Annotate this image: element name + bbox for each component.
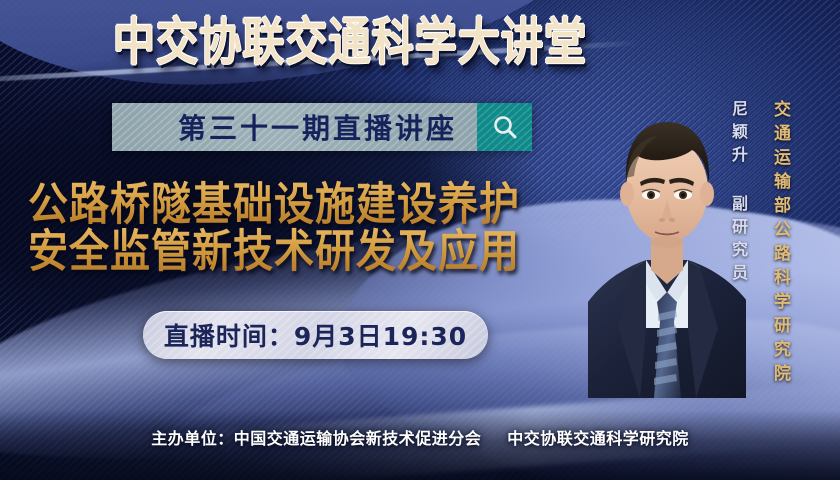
broadcast-time-text: 直播时间：9月3日19:30 <box>164 317 467 353</box>
footer-prefix: 主办单位： <box>151 429 234 448</box>
speaker-name-and-title: 尼颖升 副研究员 <box>726 100 750 287</box>
search-icon[interactable] <box>477 103 532 151</box>
footer-organizer-1: 中国交通运输协会新技术促进分会 <box>234 429 482 448</box>
episode-label: 第三十一期直播讲座 <box>132 107 457 147</box>
speaker-organization: 交通运输部公路科学研究院 <box>768 100 793 388</box>
lecture-topic-line-1: 公路桥隧基础设施建设养护 <box>28 179 588 232</box>
speaker-portrait <box>588 78 746 398</box>
episode-banner-body: 第三十一期直播讲座 <box>112 103 477 151</box>
broadcast-time-badge: 直播时间：9月3日19:30 <box>143 311 488 359</box>
page-title: 中交协联交通科学大讲堂 <box>7 18 693 69</box>
organizers-footer: 主办单位：中国交通运输协会新技术促进分会中交协联交通科学研究院 <box>0 425 840 449</box>
live-lecture-poster: 中交协联交通科学大讲堂 第三十一期直播讲座 公路桥隧基础设施建设养护 安全监管新… <box>0 0 840 480</box>
lecture-topic: 公路桥隧基础设施建设养护 安全监管新技术研发及应用 <box>28 182 588 276</box>
lecture-topic-line-2: 安全监管新技术研发及应用 <box>28 226 588 279</box>
footer-organizer-2: 中交协联交通科学研究院 <box>507 429 689 448</box>
episode-banner: 第三十一期直播讲座 <box>112 103 532 151</box>
